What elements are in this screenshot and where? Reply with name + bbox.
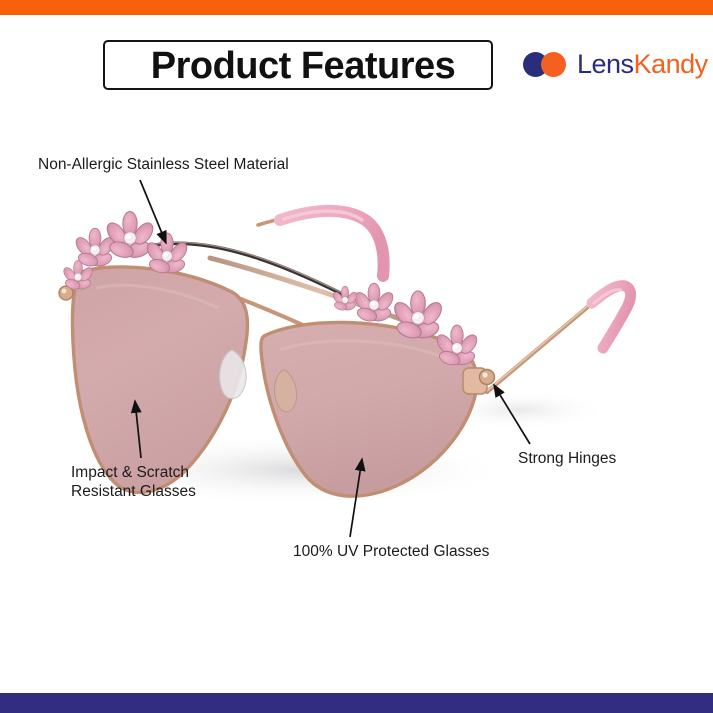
callout-label-uv: 100% UV Protected Glasses xyxy=(293,542,489,561)
callout-label-hinges: Strong Hinges xyxy=(518,449,616,468)
temple-tip-right xyxy=(592,286,631,348)
product-features-graphic: Product Features LensKandy xyxy=(0,0,713,713)
temple-tip-left xyxy=(280,211,384,276)
temple-arm-right-hilite xyxy=(487,299,596,391)
temple-arm-right xyxy=(487,300,596,392)
product-photo xyxy=(0,0,713,713)
callout-label-impact: Impact & Scratch Resistant Glasses xyxy=(71,463,196,501)
callout-label-material: Non-Allergic Stainless Steel Material xyxy=(38,155,289,174)
